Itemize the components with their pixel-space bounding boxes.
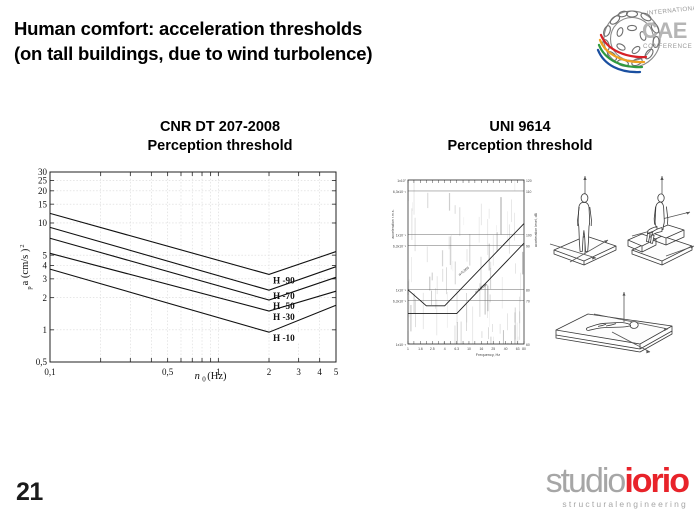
x-tick-label: 16 (480, 347, 484, 351)
x-axis-label-sub: 0 (202, 376, 206, 383)
x-tick-label: 1.6 (418, 347, 423, 351)
y-tick-label-right: 120 (526, 179, 532, 183)
chart-left-title: CNR DT 207-2008 Perception threshold (85, 118, 355, 156)
y-tick-label: 20 (38, 186, 48, 196)
cae-logo-international-text: INTERNATIONAL (646, 4, 694, 17)
title-line-1: Human comfort: acceleration thresholds (14, 16, 554, 41)
series-label: a=0,005 (458, 266, 470, 277)
y-tick-label: 5 (43, 250, 48, 260)
y-tick-label-right: 60 (526, 343, 530, 347)
y-tick-label: 6,3x10⁻² (393, 245, 407, 249)
lying-person-figure (556, 292, 672, 353)
standing-person-figure (550, 176, 616, 265)
y-tick-label: 25 (38, 176, 48, 186)
y-tick-label: 4 (43, 261, 48, 271)
chart-left-title-line-1: CNR DT 207-2008 (85, 118, 355, 137)
x-tick-label: 40 (504, 347, 508, 351)
chart-right-title-line-2: Perception threshold (400, 137, 640, 156)
y-tick-label: 1 (43, 325, 48, 335)
chart-cnr-dt-207-2008: 3025201510543210,50,10,512345n0(Hz)a (cm… (18, 162, 348, 382)
studio-word-part-2: iorio (624, 462, 688, 500)
page-title: Human comfort: acceleration thresholds (… (14, 16, 554, 66)
y-tick-label-right: 70 (526, 299, 530, 303)
y-axis-label-exponent: 2 (19, 244, 26, 247)
x-tick-label: 3 (296, 367, 301, 377)
cae-logo-conference-text: CONFERENCE (643, 43, 692, 50)
y-tick-label: 10 (38, 218, 48, 228)
y-tick-label-right: 80 (526, 288, 530, 292)
chart-right-title-line-1: UNI 9614 (400, 118, 640, 137)
y-tick-label: 2 (43, 293, 48, 303)
title-line-2: (on tall buildings, due to wind turbolen… (14, 41, 554, 66)
studio-word-part-1: studio (546, 462, 625, 500)
y-axis-label-right: acceleration level, dB (534, 212, 538, 247)
y-tick-label: 1x10⁻² (396, 288, 407, 292)
x-tick-label: 1 (407, 347, 409, 351)
seated-person-figure (628, 176, 694, 265)
series-line (408, 224, 524, 306)
y-tick-label: 0,5 (36, 357, 48, 367)
studio-tagline: structuralengineering (546, 499, 688, 509)
y-tick-label: 1x10⁻³ (396, 343, 407, 347)
cae-conference-logo-icon: INTERNATIONAL CAE CONFERENCE (590, 2, 694, 76)
y-axis-label: a (cm/s ) (20, 248, 31, 285)
series-label: H -30 (273, 312, 295, 322)
x-tick-label: 25 (491, 347, 495, 351)
x-tick-label: 80 (522, 347, 526, 351)
studio-iorio-logo: studioiorio structuralengineering (546, 464, 688, 509)
x-tick-label: 0,5 (162, 367, 174, 377)
x-tick-label: 10 (467, 347, 471, 351)
x-tick-label: 0,1 (44, 367, 55, 377)
chart-uni-9614: 1x10°6,3x10⁻¹1x10⁻¹6,3x10⁻²1x10⁻²6,3x10⁻… (386, 172, 546, 372)
x-tick-label: 4 (317, 367, 322, 377)
posture-figures (548, 174, 696, 374)
y-axis-label-sub: p (26, 286, 33, 289)
x-tick-label: 4 (444, 347, 446, 351)
series-label: H -10 (273, 333, 295, 343)
x-axis-label: n (195, 371, 200, 382)
chart-right-title: UNI 9614 Perception threshold (400, 118, 640, 156)
x-axis-label-unit: (Hz) (207, 371, 227, 382)
series-label: H -90 (273, 275, 295, 285)
x-tick-label: 6.3 (454, 347, 459, 351)
series-line (408, 243, 524, 313)
x-tick-label: 63 (516, 347, 520, 351)
page-number: 21 (16, 478, 43, 507)
y-tick-label-right: 90 (526, 245, 530, 249)
y-tick-label: 15 (38, 199, 48, 209)
slide: Human comfort: acceleration thresholds (… (0, 0, 700, 525)
y-tick-label: 6,3x10⁻¹ (393, 190, 407, 194)
x-tick-label: 5 (334, 367, 339, 377)
y-tick-label: 6,3x10⁻³ (393, 299, 407, 303)
cae-logo-cae-text: CAE (642, 18, 687, 43)
chart-left-title-line-2: Perception threshold (85, 137, 355, 156)
y-tick-label-right: 110 (526, 190, 532, 194)
x-tick-label: 2.5 (430, 347, 435, 351)
y-axis-label: acceleration r.m.s. (391, 209, 395, 238)
y-tick-label: 1x10⁻¹ (396, 234, 407, 238)
y-tick-label-right: 100 (526, 234, 532, 238)
studio-iorio-wordmark: studioiorio (546, 464, 688, 498)
y-tick-label: 1x10° (397, 179, 406, 183)
x-axis-label: Frequency, Hz (476, 353, 501, 357)
x-tick-label: 2 (267, 367, 272, 377)
y-tick-label: 3 (43, 274, 48, 284)
